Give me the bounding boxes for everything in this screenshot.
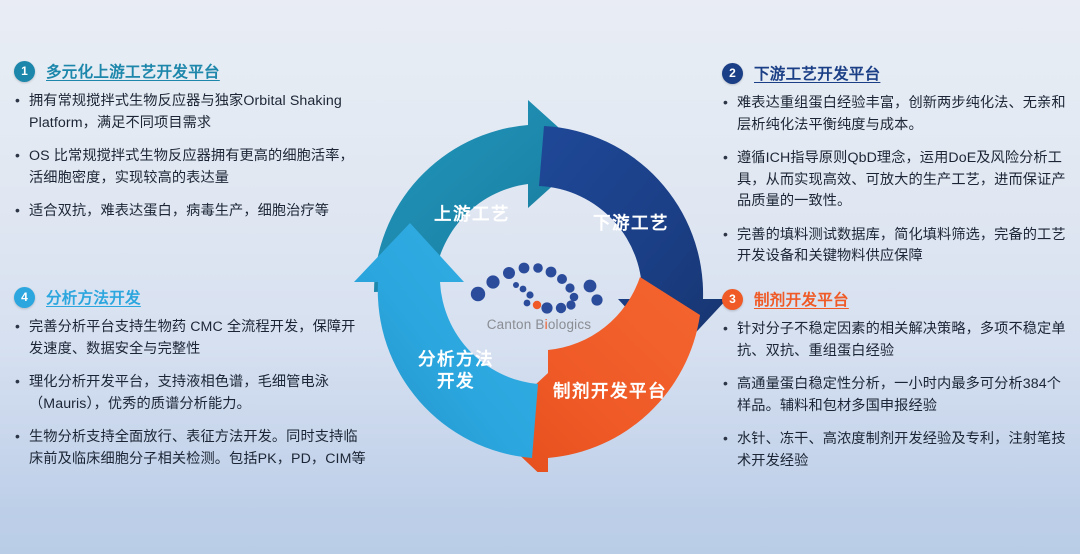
logo-word-part-1: Canton B bbox=[487, 317, 545, 332]
list-item: 遵循ICH指导原则QbD理念，运用DoE及风险分析工具，从而实现高效、可放大的生… bbox=[722, 148, 1074, 213]
panel-title[interactable]: 多元化上游工艺开发平台 bbox=[46, 60, 220, 82]
list-item: 针对分子不稳定因素的相关解决策略，多项不稳定单抗、双抗、重组蛋白经验 bbox=[722, 319, 1074, 362]
panel-header: 4 分析方法开发 bbox=[14, 286, 366, 308]
list-item: 适合双抗，难表达蛋白，病毒生产，细胞治疗等 bbox=[14, 201, 366, 223]
list-item: 理化分析开发平台，支持液相色谱，毛细管电泳（Mauris），优秀的质谱分析能力。 bbox=[14, 372, 366, 415]
cycle-label-analytics: 分析方法 bbox=[418, 349, 494, 369]
panel-header: 1 多元化上游工艺开发平台 bbox=[14, 60, 366, 82]
panel-bullet-list: 针对分子不稳定因素的相关解决策略，多项不稳定单抗、双抗、重组蛋白经验 高通量蛋白… bbox=[722, 319, 1074, 472]
list-item: 拥有常规搅拌式生物反应器与独家Orbital Shaking Platform，… bbox=[14, 91, 366, 134]
panel-bullet-list: 难表达重组蛋白经验丰富，创新两步纯化法、无亲和层析纯化法平衡纯度与成本。 遵循I… bbox=[722, 93, 1074, 268]
list-item: 完善分析平台支持生物药 CMC 全流程开发，保障开发速度、数据安全与完整性 bbox=[14, 317, 366, 360]
panel-header: 2 下游工艺开发平台 bbox=[722, 62, 1074, 84]
company-logo: Canton Biologics bbox=[466, 258, 612, 340]
panel-bullet-list: 拥有常规搅拌式生物反应器与独家Orbital Shaking Platform，… bbox=[14, 91, 366, 223]
logo-word-part-2: ologics bbox=[548, 317, 591, 332]
logo-dna-mark bbox=[466, 258, 612, 316]
list-item: 完善的填料测试数据库，简化填料筛选，完备的工艺开发设备和关键物料供应保障 bbox=[722, 225, 1074, 268]
panel-upstream-platform: 1 多元化上游工艺开发平台 拥有常规搅拌式生物反应器与独家Orbital Sha… bbox=[14, 60, 366, 223]
panel-bullet-list: 完善分析平台支持生物药 CMC 全流程开发，保障开发速度、数据安全与完整性 理化… bbox=[14, 317, 366, 470]
list-item: 难表达重组蛋白经验丰富，创新两步纯化法、无亲和层析纯化法平衡纯度与成本。 bbox=[722, 93, 1074, 136]
panel-number-badge: 4 bbox=[14, 287, 35, 308]
cycle-label-downstream: 下游工艺 bbox=[593, 213, 669, 233]
panel-header: 3 制剂开发平台 bbox=[722, 288, 1074, 310]
panel-number-badge: 2 bbox=[722, 63, 743, 84]
list-item: 高通量蛋白稳定性分析，一小时内最多可分析384个样品。辅料和包材多国申报经验 bbox=[722, 374, 1074, 417]
logo-wordmark: Canton Biologics bbox=[466, 317, 612, 332]
cycle-label-upstream: 上游工艺 bbox=[434, 204, 510, 224]
logo-accent-dot bbox=[533, 301, 541, 309]
cycle-label-formulation: 制剂开发平台 bbox=[553, 381, 667, 401]
panel-title[interactable]: 分析方法开发 bbox=[46, 286, 141, 308]
panel-analytical-development: 4 分析方法开发 完善分析平台支持生物药 CMC 全流程开发，保障开发速度、数据… bbox=[14, 286, 366, 470]
panel-number-badge: 3 bbox=[722, 289, 743, 310]
panel-title[interactable]: 制剂开发平台 bbox=[754, 288, 849, 310]
panel-number-badge: 1 bbox=[14, 61, 35, 82]
list-item: 生物分析支持全面放行、表征方法开发。同时支持临床前及临床细胞分子相关检测。包括P… bbox=[14, 427, 366, 470]
list-item: OS 比常规搅拌式生物反应器拥有更高的细胞活率，活细胞密度，实现较高的表达量 bbox=[14, 146, 366, 189]
panel-downstream-platform: 2 下游工艺开发平台 难表达重组蛋白经验丰富，创新两步纯化法、无亲和层析纯化法平… bbox=[722, 62, 1074, 268]
cycle-label-analytics-line2: 开发 bbox=[437, 371, 475, 391]
list-item: 水针、冻干、高浓度制剂开发经验及专利，注射笔技术开发经验 bbox=[722, 429, 1074, 472]
panel-formulation-platform: 3 制剂开发平台 针对分子不稳定因素的相关解决策略，多项不稳定单抗、双抗、重组蛋… bbox=[722, 288, 1074, 472]
panel-title[interactable]: 下游工艺开发平台 bbox=[754, 62, 880, 84]
slide-canvas: 上游工艺 下游工艺 制剂开发平台 分析方法 开发 bbox=[0, 0, 1080, 554]
